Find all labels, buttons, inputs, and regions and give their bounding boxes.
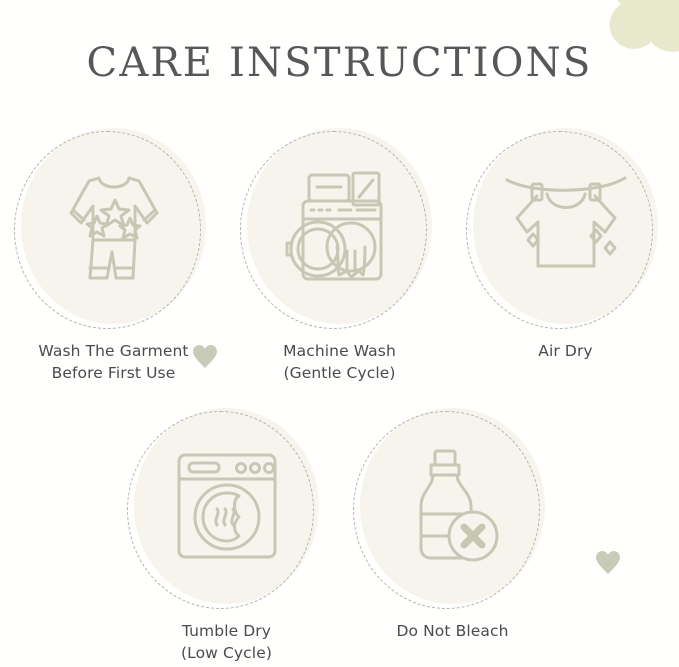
icon-badge bbox=[473, 128, 658, 324]
care-item-do-not-bleach[interactable]: Do Not Bleach bbox=[340, 408, 566, 664]
tumble-dryer-icon bbox=[175, 451, 279, 561]
icon-badge bbox=[21, 128, 206, 324]
care-item-machine-wash[interactable]: Machine Wash (Gentle Cycle) bbox=[227, 128, 453, 384]
care-item-label: Tumble Dry (Low Cycle) bbox=[181, 620, 272, 664]
care-item-label: Machine Wash (Gentle Cycle) bbox=[283, 340, 396, 384]
washing-machine-icon bbox=[281, 167, 399, 285]
icon-badge bbox=[134, 408, 319, 604]
clothesline-tshirt-icon bbox=[505, 170, 627, 282]
care-item-tumble-dry[interactable]: Tumble Dry (Low Cycle) bbox=[114, 408, 340, 664]
care-item-label: Wash The Garment Before First Use bbox=[38, 340, 188, 384]
pajama-outfit-icon bbox=[59, 166, 169, 286]
care-items-row-bottom: Tumble Dry (Low Cycle) Do Not Bleach bbox=[0, 408, 679, 664]
icon-badge bbox=[360, 408, 545, 604]
icon-badge bbox=[247, 128, 432, 324]
care-item-label: Do Not Bleach bbox=[396, 620, 508, 642]
care-items-row-top: Wash The Garment Before First Use bbox=[0, 128, 679, 384]
no-bleach-bottle-icon bbox=[403, 448, 503, 564]
care-item-wash-before-first-use[interactable]: Wash The Garment Before First Use bbox=[1, 128, 227, 384]
care-item-label: Air Dry bbox=[538, 340, 592, 362]
care-item-air-dry[interactable]: Air Dry bbox=[453, 128, 679, 384]
page-title: CARE INSTRUCTIONS bbox=[0, 40, 679, 86]
